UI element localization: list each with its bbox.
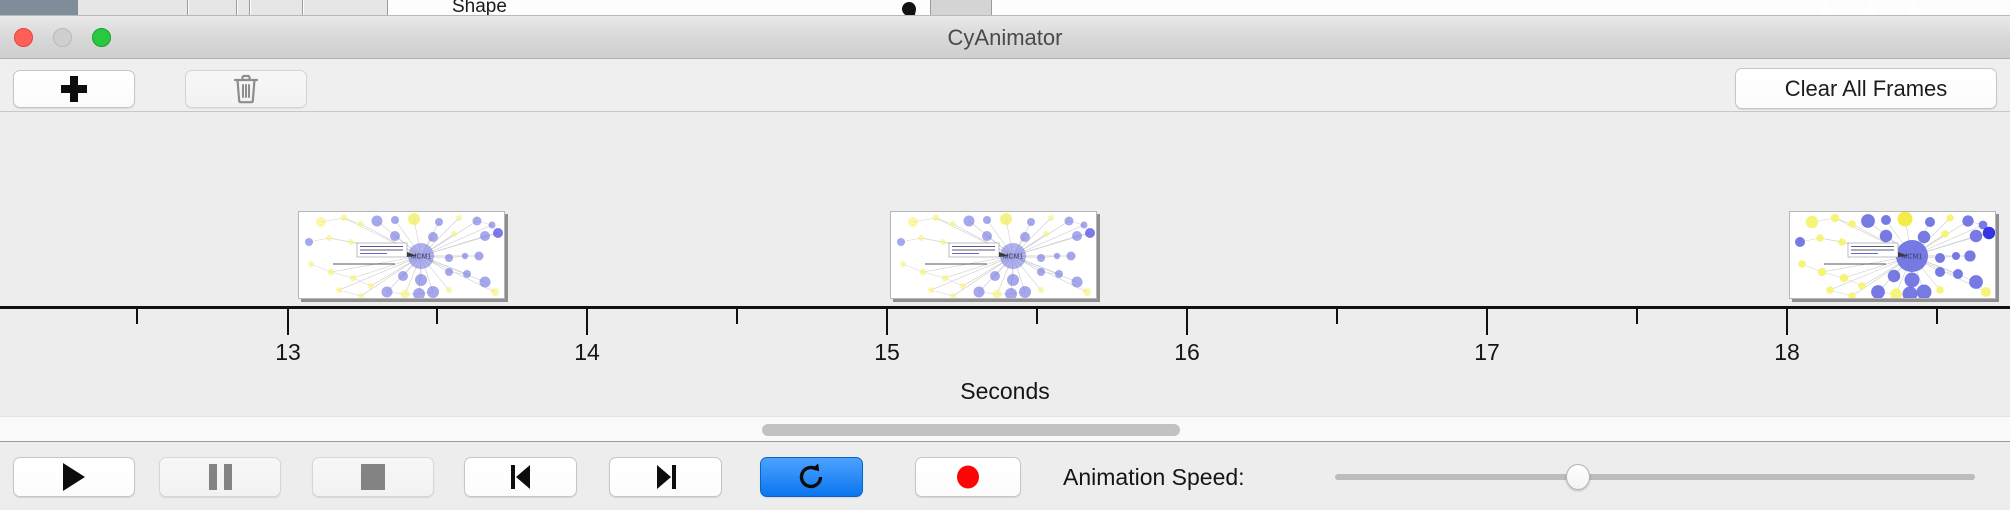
background-strip-segment <box>251 0 303 16</box>
pause-button[interactable] <box>159 457 281 497</box>
ruler-tick-label: 13 <box>275 339 301 366</box>
background-window-label: Shape <box>452 0 507 16</box>
keyframe-thumbnail[interactable]: MCM1 <box>1789 211 1996 299</box>
ruler-tick-major <box>586 309 588 335</box>
ruler-tick-minor <box>1036 309 1038 324</box>
ruler-axis-title: Seconds <box>0 378 2010 405</box>
ruler-tick-major <box>1186 309 1188 335</box>
background-strip-segment <box>304 0 388 16</box>
ruler-tick-major <box>1786 309 1788 335</box>
record-button[interactable] <box>915 457 1021 497</box>
ruler-tick-minor <box>1936 309 1938 324</box>
skip-forward-icon <box>653 463 679 491</box>
delete-frame-button[interactable] <box>185 70 307 108</box>
ruler-tick-minor <box>436 309 438 324</box>
timeline-ruler: 12131415161718 Seconds <box>0 306 2010 423</box>
background-strip-segment <box>78 0 188 16</box>
cyanimator-window: Shape CyAnimator Clear All Frames <box>0 0 2010 510</box>
ruler-tick-label: 17 <box>1474 339 1500 366</box>
slider-thumb[interactable] <box>1566 464 1590 490</box>
keyframe-thumbnail[interactable]: MCM1 <box>890 211 1097 299</box>
ruler-tick-label: 16 <box>1174 339 1200 366</box>
record-icon <box>954 463 982 491</box>
trash-icon <box>233 74 259 104</box>
network-graph-preview: MCM1 <box>299 212 505 299</box>
ruler-tick-major <box>886 309 888 335</box>
hub-node-label: MCM1 <box>1902 254 1923 261</box>
previous-frame-button[interactable] <box>464 457 577 497</box>
scrollbar-thumb[interactable] <box>762 424 1180 436</box>
playback-control-bar: Animation Speed: <box>0 443 2010 510</box>
play-button[interactable] <box>13 457 135 497</box>
ruler-tick-label: 15 <box>874 339 900 366</box>
hub-node-label: MCM1 <box>1003 254 1024 261</box>
background-strip-box <box>930 0 992 16</box>
clear-all-frames-button[interactable]: Clear All Frames <box>1735 68 1997 109</box>
play-icon <box>63 463 85 491</box>
plus-icon <box>61 76 87 102</box>
background-triangle-icon <box>1862 1 1878 16</box>
stop-icon <box>361 464 385 490</box>
background-strip-segment <box>238 0 250 16</box>
background-window-strip: Shape <box>0 0 2010 16</box>
ruler-tick-minor <box>1636 309 1638 324</box>
window-title: CyAnimator <box>0 16 2010 59</box>
slider-track[interactable] <box>1335 474 1975 480</box>
ruler-tick-label: 12 <box>0 339 1 366</box>
keyframe-thumbnail[interactable]: MCM1 <box>298 211 505 299</box>
network-graph-preview: MCM1 <box>1790 212 1996 299</box>
skip-back-icon <box>508 463 534 491</box>
background-cursor-blob <box>901 1 918 16</box>
ruler-tick-label: 18 <box>1774 339 1800 366</box>
title-bar: CyAnimator <box>0 16 2010 59</box>
animation-speed-slider[interactable] <box>1335 457 1975 497</box>
ruler-tick-major <box>287 309 289 335</box>
hub-node-label: MCM1 <box>411 254 432 261</box>
pause-icon <box>209 464 232 490</box>
ruler-tick-major <box>1486 309 1488 335</box>
next-frame-button[interactable] <box>609 457 722 497</box>
frame-toolbar: Clear All Frames <box>0 59 2010 112</box>
ruler-tick-minor <box>736 309 738 324</box>
ruler-tick-label: 14 <box>574 339 600 366</box>
network-graph-preview: MCM1 <box>891 212 1097 299</box>
background-triangle-icon <box>1818 1 1834 16</box>
ruler-baseline <box>0 306 2010 309</box>
timeline-horizontal-scrollbar[interactable] <box>0 416 2010 442</box>
background-strip-dark-segment <box>0 0 78 16</box>
stop-button[interactable] <box>312 457 434 497</box>
timeline-panel[interactable]: MCM1MCM1MCM1 12131415161718 Seconds <box>0 113 2010 423</box>
background-strip-segment <box>189 0 237 16</box>
clear-all-frames-label: Clear All Frames <box>1785 76 1948 102</box>
loop-icon <box>798 462 826 492</box>
ruler-tick-minor <box>1336 309 1338 324</box>
add-frame-button[interactable] <box>13 70 135 108</box>
ruler-tick-minor <box>136 309 138 324</box>
background-triangle-icon <box>1906 1 1922 16</box>
animation-speed-label: Animation Speed: <box>1063 457 1245 497</box>
loop-button[interactable] <box>760 457 863 497</box>
